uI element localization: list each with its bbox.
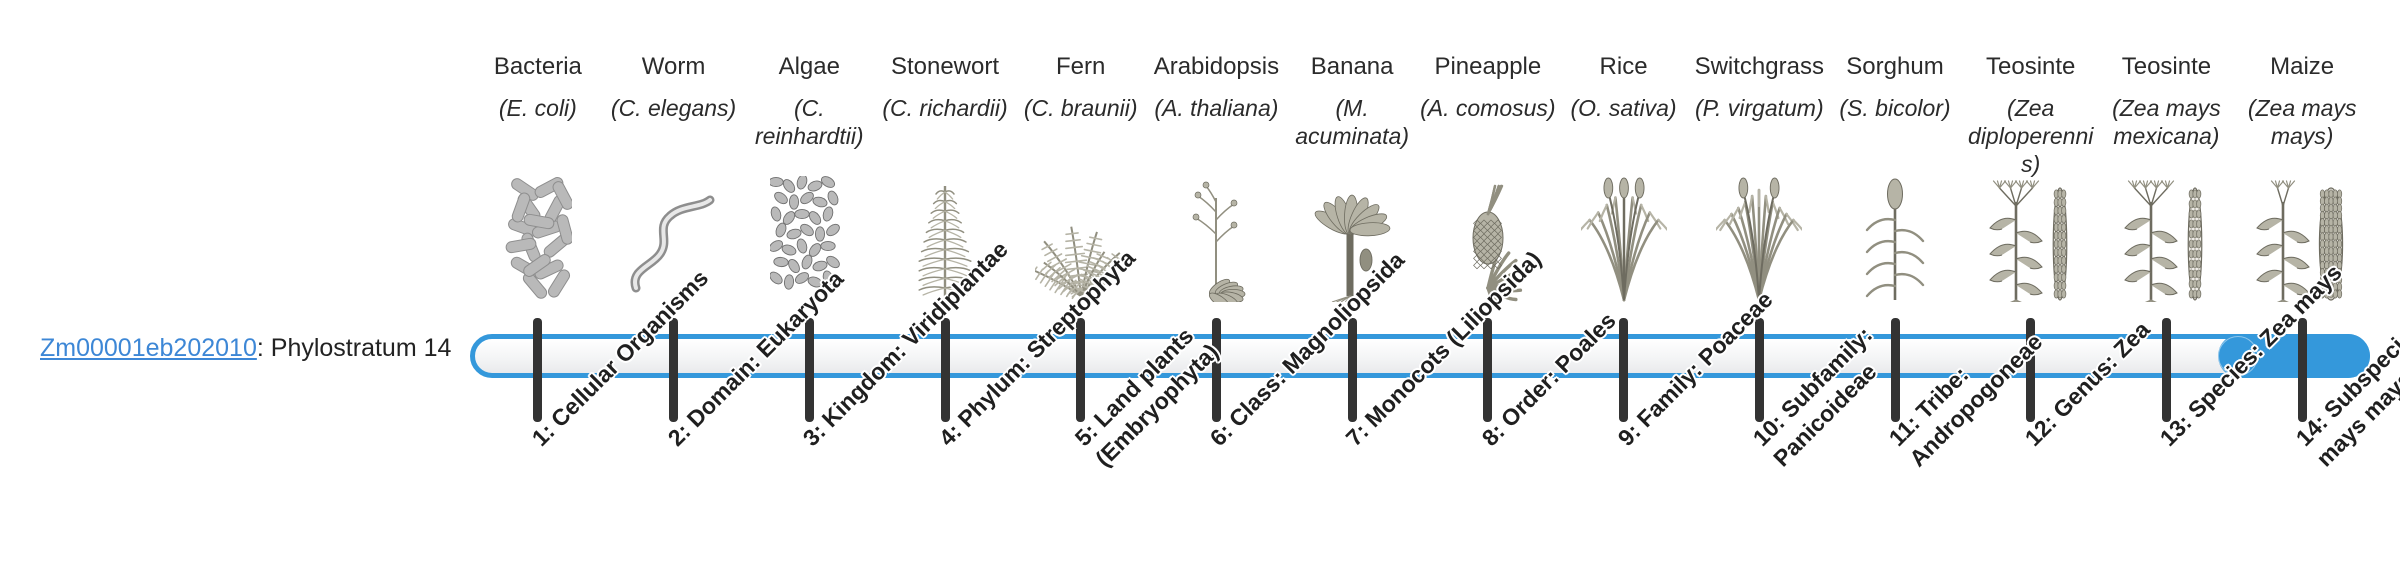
tick-mark-2 [669,318,678,422]
species-scientific-name: (C. braunii) [1013,94,1149,122]
species-header-13: Teosinte (Zea mays mexicana) [2099,52,2235,150]
tick-mark-7 [1348,318,1357,422]
species-header-12: Teosinte (Zea diploperennis) [1963,52,2099,178]
species-common-name: Pineapple [1420,52,1556,82]
species-scientific-name: (O. sativa) [1556,94,1692,122]
species-common-name: Banana [1284,52,1420,82]
species-common-name: Teosinte [2099,52,2235,82]
species-header-5: Fern (C. braunii) [1013,52,1149,122]
gene-phylostratum-label: Zm00001eb202010: Phylostratum 14 [40,333,440,363]
phylostratum-figure: Zm00001eb202010: Phylostratum 14 Bacteri… [0,0,2400,580]
species-scientific-name: (Zea diploperennis) [1963,94,2099,178]
species-header-10: Switchgrass (P. virgatum) [1691,52,1827,122]
tick-mark-9 [1619,318,1628,422]
tick-mark-10 [1755,318,1764,422]
tick-mark-4 [941,318,950,422]
tick-mark-8 [1483,318,1492,422]
tick-mark-14 [2298,318,2307,422]
species-common-name: Fern [1013,52,1149,82]
species-scientific-name: (C. richardii) [877,94,1013,122]
phylostratum-value-text: Phylostratum 14 [271,334,452,362]
species-scientific-name: (Zea mays mays) [2234,94,2370,150]
species-common-name: Bacteria [470,52,606,82]
species-common-name: Algae [741,52,877,82]
species-scientific-name: (A. comosus) [1420,94,1556,122]
gene-id-link[interactable]: Zm00001eb202010 [40,334,257,362]
species-common-name: Worm [606,52,742,82]
species-header-4: Stonewort (C. richardii) [877,52,1013,122]
species-scientific-name: (E. coli) [470,94,606,122]
species-header-1: Bacteria (E. coli) [470,52,606,122]
species-scientific-name: (S. bicolor) [1827,94,1963,122]
tick-mark-13 [2162,318,2171,422]
species-scientific-name: (C. reinhardtii) [741,94,877,150]
species-common-name: Maize [2234,52,2370,82]
species-scientific-name: (C. elegans) [606,94,742,122]
species-header-2: Worm (C. elegans) [606,52,742,122]
species-common-name: Sorghum [1827,52,1963,82]
tick-mark-1 [533,318,542,422]
tick-mark-5 [1076,318,1085,422]
species-scientific-name: (Zea mays mexicana) [2099,94,2235,150]
species-header-14: Maize (Zea mays mays) [2234,52,2370,150]
species-scientific-name: (P. virgatum) [1691,94,1827,122]
species-scientific-name: (A. thaliana) [1149,94,1285,122]
species-header-11: Sorghum (S. bicolor) [1827,52,1963,122]
species-scientific-name: (M. acuminata) [1284,94,1420,150]
species-common-name: Switchgrass [1691,52,1827,82]
species-common-name: Teosinte [1963,52,2099,82]
species-common-name: Stonewort [877,52,1013,82]
tick-mark-3 [805,318,814,422]
species-header-3: Algae (C. reinhardtii) [741,52,877,150]
species-header-7: Banana (M. acuminata) [1284,52,1420,150]
gene-label-separator: : [257,334,271,362]
species-header-6: Arabidopsis (A. thaliana) [1149,52,1285,122]
species-header-8: Pineapple (A. comosus) [1420,52,1556,122]
species-common-name: Arabidopsis [1149,52,1285,82]
species-header-9: Rice (O. sativa) [1556,52,1692,122]
bacteria-icon [470,172,606,302]
species-common-name: Rice [1556,52,1692,82]
